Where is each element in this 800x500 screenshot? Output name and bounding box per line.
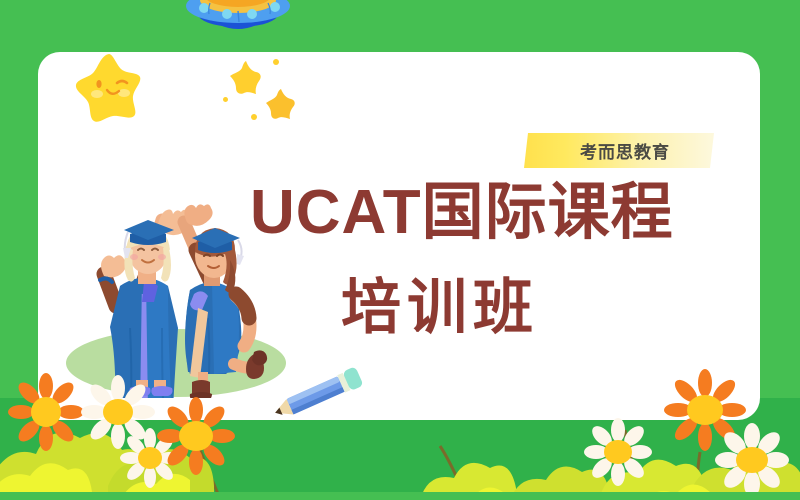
flowers-decoration [0,360,800,500]
sparkle-dot-icon [251,114,257,120]
sparkle-dot-icon [273,59,279,65]
poster-canvas: 考而思教育 UCAT国际课程 培训班 [0,0,800,500]
smiling-star-icon [72,52,146,124]
sparkle-dot-icon [223,97,228,102]
background-bottom-strip [0,492,800,500]
brand-tag: 考而思教育 [524,133,714,168]
star-icon [228,60,264,96]
star-icon [265,88,297,120]
ufo-icon [182,0,294,50]
page-subtitle: 培训班 [250,272,760,344]
brand-tag-label: 考而思教育 [524,133,714,168]
page-title: UCAT国际课程 [250,176,760,250]
headline-block: UCAT国际课程 培训班 [250,176,760,344]
